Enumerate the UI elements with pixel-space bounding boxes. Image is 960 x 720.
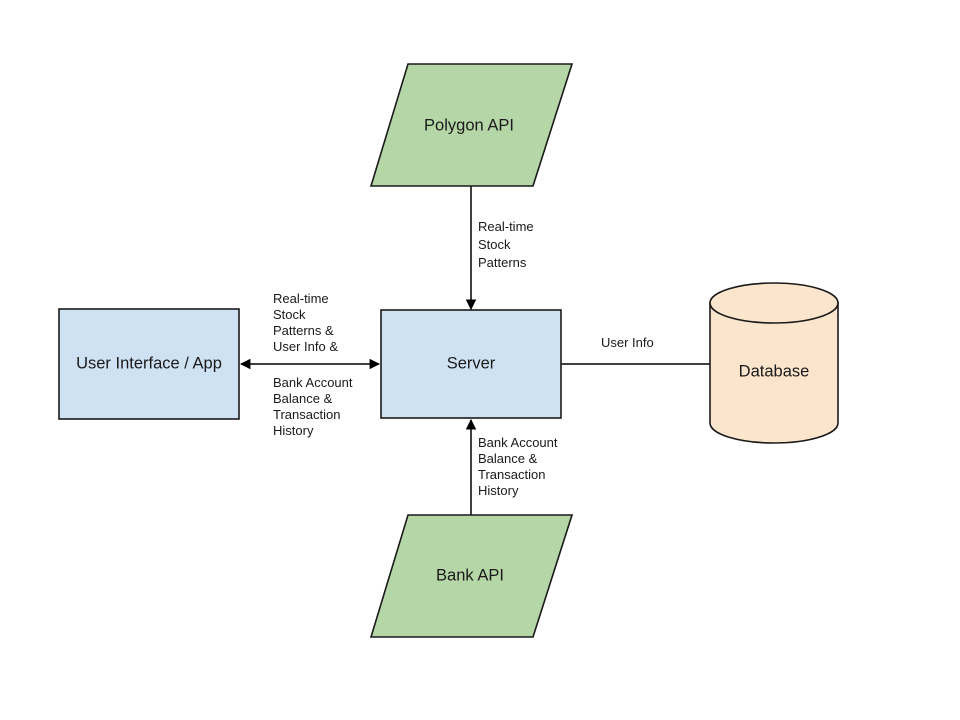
- edge-label-ui-server-response: Bank Account Balance & Transaction Histo…: [273, 375, 353, 438]
- edge-label-polygon-line-0: Real-time: [478, 219, 534, 234]
- edge-label-server-database: User Info: [601, 335, 654, 350]
- node-polygon-api[interactable]: Polygon API: [371, 64, 572, 186]
- edge-label-ui-request-line-2: Patterns &: [273, 323, 334, 338]
- edge-label-bank-to-server: Bank Account Balance & Transaction Histo…: [478, 435, 558, 498]
- polygon-api-label: Polygon API: [424, 116, 514, 134]
- edge-label-ui-response-line-2: Transaction: [273, 407, 340, 422]
- edge-label-ui-response-line-3: History: [273, 423, 314, 438]
- diagram-canvas: Polygon API Bank API Server User Interfa…: [0, 0, 960, 720]
- node-server[interactable]: Server: [381, 310, 561, 418]
- edge-label-ui-request-line-3: User Info &: [273, 339, 338, 354]
- edge-label-ui-response-line-1: Balance &: [273, 391, 333, 406]
- edge-label-ui-request-line-1: Stock: [273, 307, 306, 322]
- edge-label-polygon-to-server: Real-time Stock Patterns: [478, 219, 534, 270]
- node-database[interactable]: Database: [710, 283, 838, 443]
- server-label: Server: [447, 354, 496, 372]
- database-top-ellipse[interactable]: [710, 283, 838, 323]
- node-bank-api[interactable]: Bank API: [371, 515, 572, 637]
- bank-api-label: Bank API: [436, 566, 504, 584]
- edge-label-bank-line-0: Bank Account: [478, 435, 558, 450]
- edge-label-server-database-line-0: User Info: [601, 335, 654, 350]
- edge-label-ui-request-line-0: Real-time: [273, 291, 329, 306]
- edge-label-polygon-line-1: Stock: [478, 237, 511, 252]
- user-interface-label: User Interface / App: [76, 354, 222, 372]
- database-label: Database: [739, 362, 810, 380]
- edge-label-bank-line-1: Balance &: [478, 451, 538, 466]
- edge-label-bank-line-2: Transaction: [478, 467, 545, 482]
- diagram-svg: Polygon API Bank API Server User Interfa…: [0, 0, 960, 720]
- edge-label-bank-line-3: History: [478, 483, 519, 498]
- edge-label-ui-response-line-0: Bank Account: [273, 375, 353, 390]
- node-user-interface[interactable]: User Interface / App: [59, 309, 239, 419]
- edge-label-ui-server-request: Real-time Stock Patterns & User Info &: [273, 291, 338, 354]
- edge-label-polygon-line-2: Patterns: [478, 255, 527, 270]
